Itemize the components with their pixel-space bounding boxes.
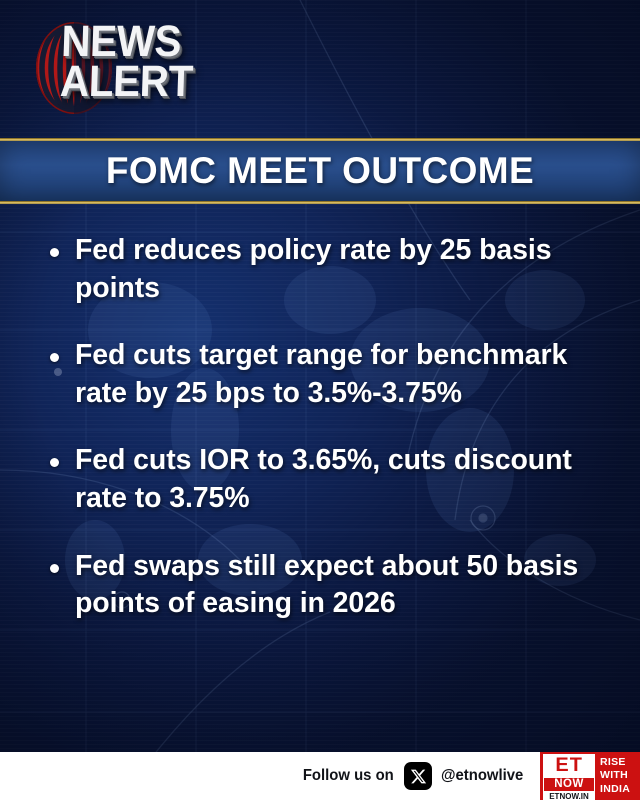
- bullet-text: Fed swaps still expect about 50 basis po…: [75, 548, 580, 623]
- bullet-list: Fed reduces policy rate by 25 basis poin…: [0, 210, 640, 740]
- list-item: Fed cuts IOR to 3.65%, cuts discount rat…: [50, 442, 622, 517]
- et-box: ET: [543, 754, 595, 777]
- bullet-dot-icon: [50, 248, 59, 257]
- follow-us-label: Follow us on: [303, 767, 394, 785]
- page-title: FOMC MEET OUTCOME: [106, 150, 534, 192]
- etnow-logo: ET NOW ETNOW.IN RISE WITH INDIA: [540, 752, 640, 800]
- et-text: ET: [555, 756, 583, 775]
- social-handle[interactable]: @etnowlive: [441, 767, 523, 785]
- title-banner: FOMC MEET OUTCOME: [0, 138, 640, 204]
- tagline-line-1: RISE: [600, 756, 640, 769]
- tagline-line-2: WITH: [600, 769, 640, 782]
- x-twitter-icon[interactable]: [404, 762, 432, 790]
- now-box: NOW: [543, 777, 595, 792]
- list-item: Fed swaps still expect about 50 basis po…: [50, 548, 622, 623]
- news-alert-logo-text: NEWS ALERT: [59, 22, 194, 103]
- bullet-text: Fed reduces policy rate by 25 basis poin…: [75, 232, 580, 307]
- list-item: Fed reduces policy rate by 25 basis poin…: [50, 232, 622, 307]
- domain-text: ETNOW.IN: [549, 793, 589, 800]
- gold-rule-bottom: [0, 201, 640, 204]
- tagline: RISE WITH INDIA: [600, 756, 640, 796]
- bullet-dot-icon: [50, 458, 59, 467]
- now-text: NOW: [554, 779, 584, 791]
- banner-bar: FOMC MEET OUTCOME: [0, 141, 640, 201]
- bullet-dot-icon: [50, 353, 59, 362]
- etnow-logo-mark: ET NOW ETNOW.IN: [543, 754, 595, 798]
- bullet-dot-icon: [50, 564, 59, 573]
- alert-word: ALERT: [59, 62, 193, 102]
- header: NEWS ALERT: [0, 0, 640, 140]
- tagline-line-3: INDIA: [600, 783, 640, 796]
- news-alert-graphic: NEWS ALERT FOMC MEET OUTCOME Fed reduces…: [0, 0, 640, 800]
- bullet-text: Fed cuts target range for benchmark rate…: [75, 337, 580, 412]
- footer-bar: Follow us on @etnowlive ET NOW ETNOW.IN …: [0, 752, 640, 800]
- domain-box: ETNOW.IN: [543, 792, 595, 800]
- list-item: Fed cuts target range for benchmark rate…: [50, 337, 622, 412]
- bullet-text: Fed cuts IOR to 3.65%, cuts discount rat…: [75, 442, 580, 517]
- news-word: NEWS: [61, 22, 195, 62]
